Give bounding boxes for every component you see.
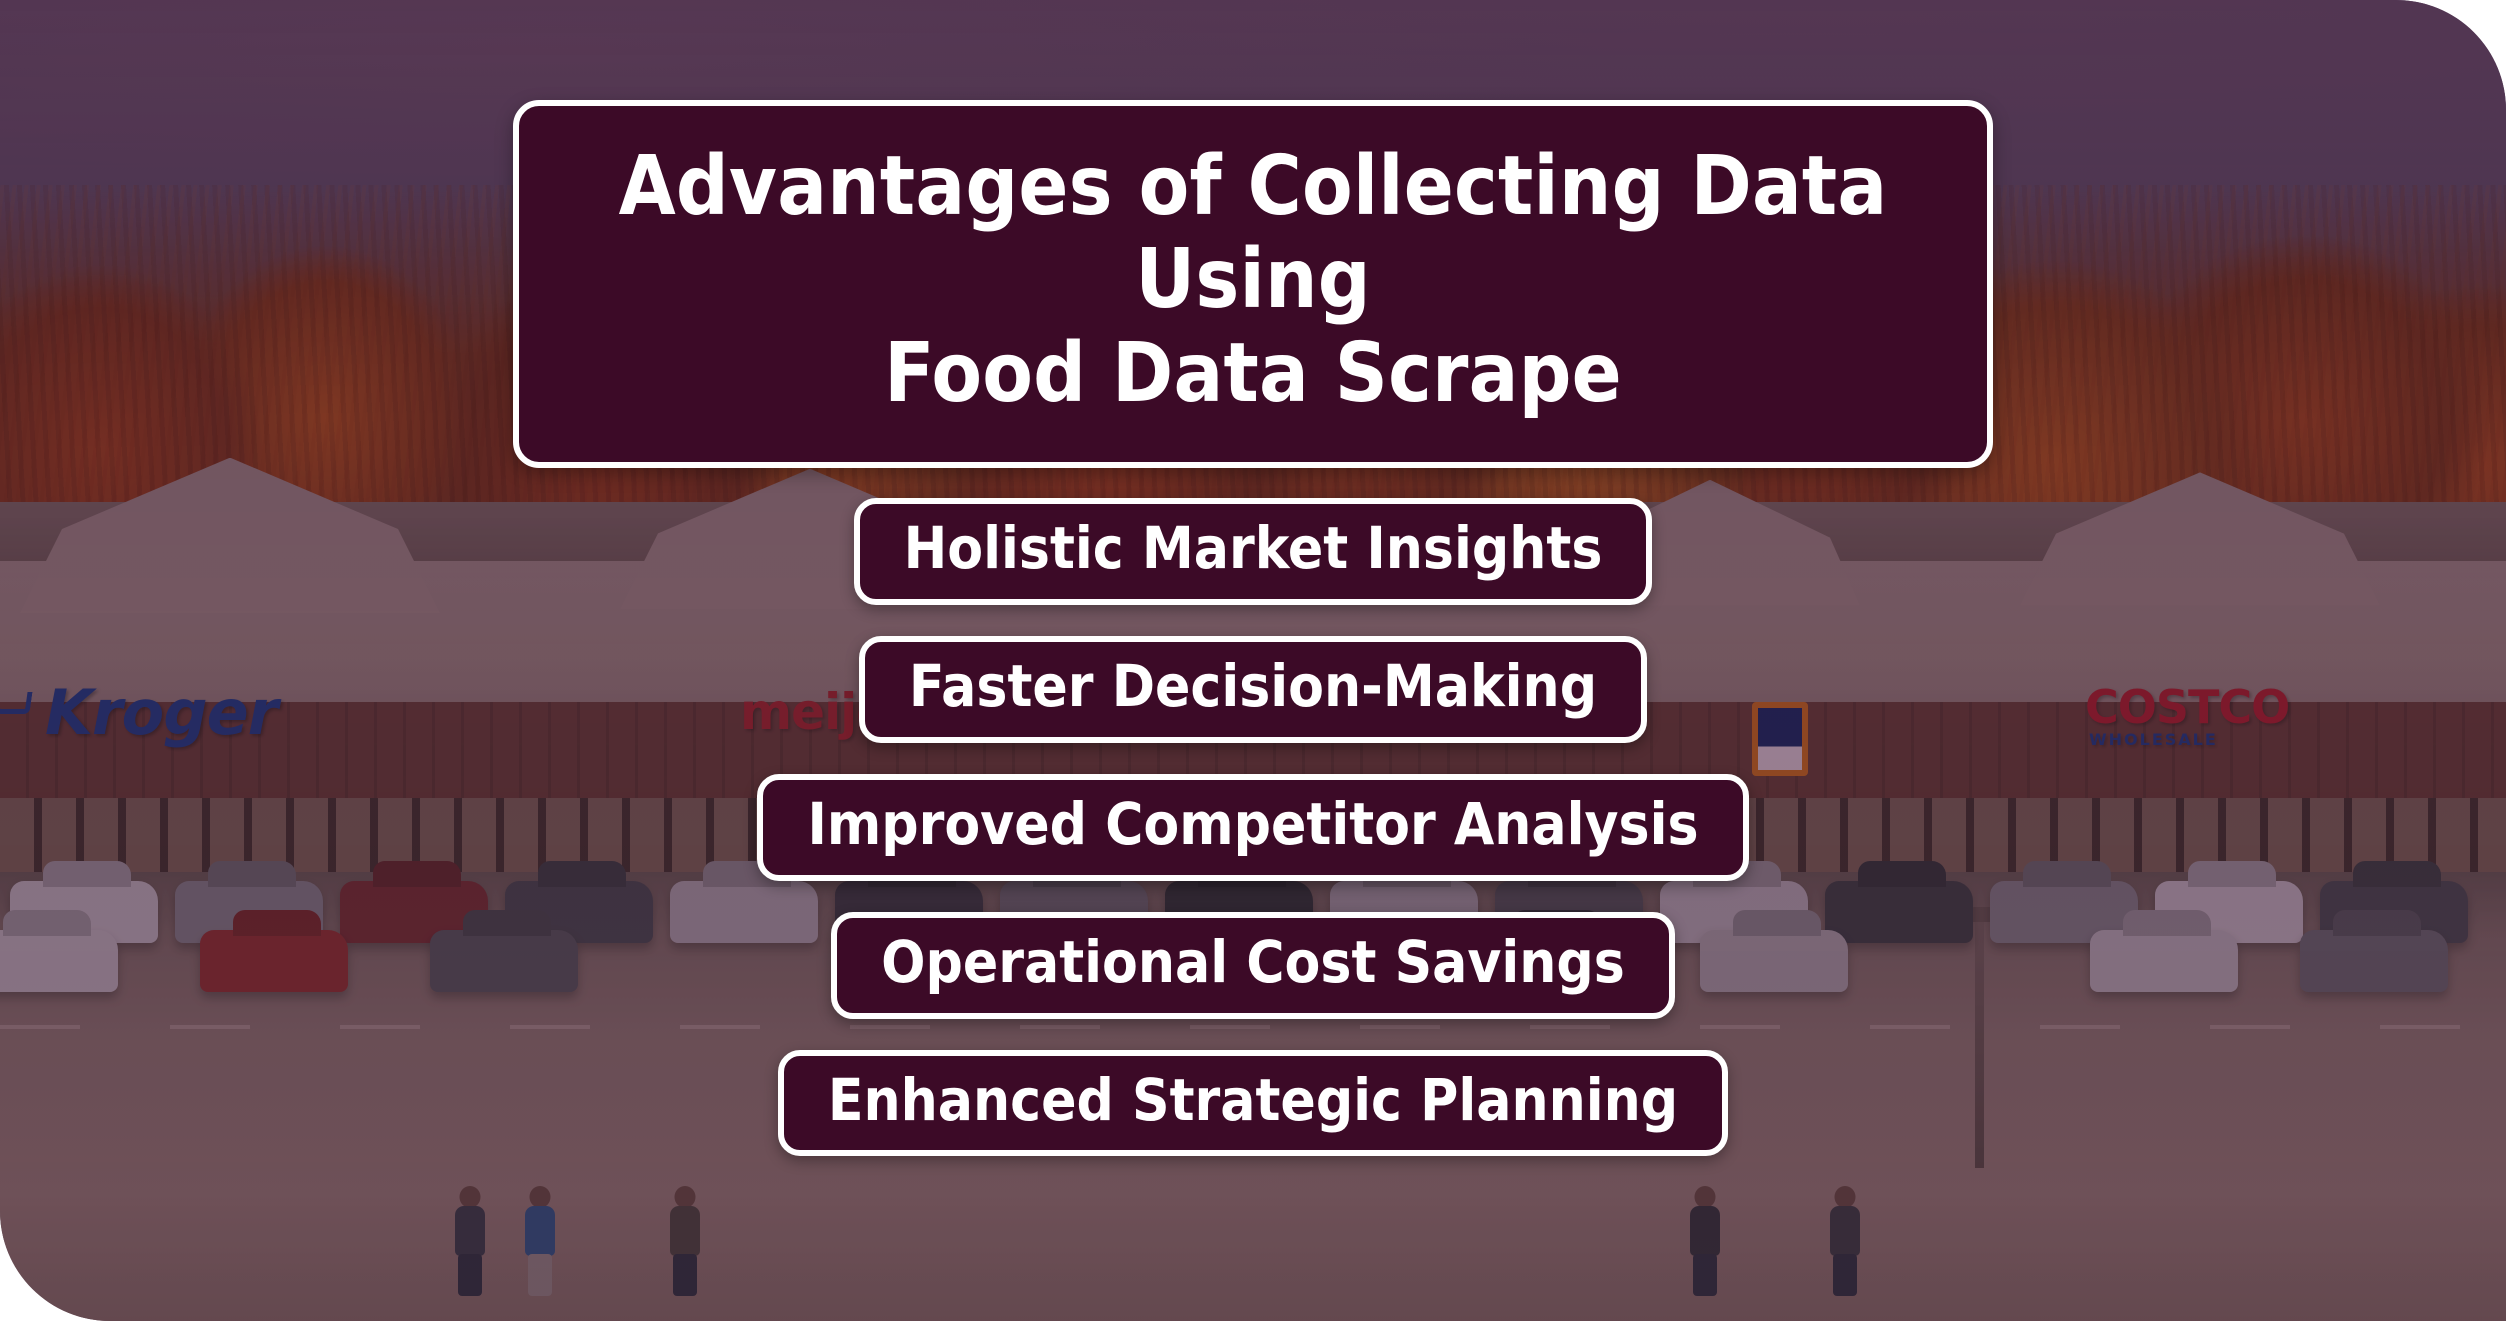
infographic-poster: Kroger meijer COSTCO WHOLESALE	[0, 0, 2506, 1321]
benefit-label: Holistic Market Insights	[904, 518, 1603, 579]
title-line-1: Advantages of Collecting Data Using	[619, 139, 1888, 327]
benefit-label: Faster Decision-Making	[909, 656, 1597, 717]
poster-content: Advantages of Collecting Data Using Food…	[0, 0, 2506, 1321]
title-line-2: Food Data Scrape	[884, 326, 1622, 421]
page-title: Advantages of Collecting Data Using Food…	[569, 140, 1937, 420]
benefit-label: Improved Competitor Analysis	[807, 794, 1698, 855]
benefit-item-3: Improved Competitor Analysis	[757, 774, 1748, 881]
benefits-list: Holistic Market Insights Faster Decision…	[203, 498, 2303, 1156]
benefit-item-5: Enhanced Strategic Planning	[778, 1050, 1728, 1157]
benefit-item-4: Operational Cost Savings	[831, 912, 1675, 1019]
benefit-item-2: Faster Decision-Making	[859, 636, 1647, 743]
benefit-label: Enhanced Strategic Planning	[828, 1070, 1678, 1131]
benefit-label: Operational Cost Savings	[881, 932, 1625, 993]
benefit-item-1: Holistic Market Insights	[854, 498, 1653, 605]
title-card: Advantages of Collecting Data Using Food…	[513, 100, 1993, 468]
